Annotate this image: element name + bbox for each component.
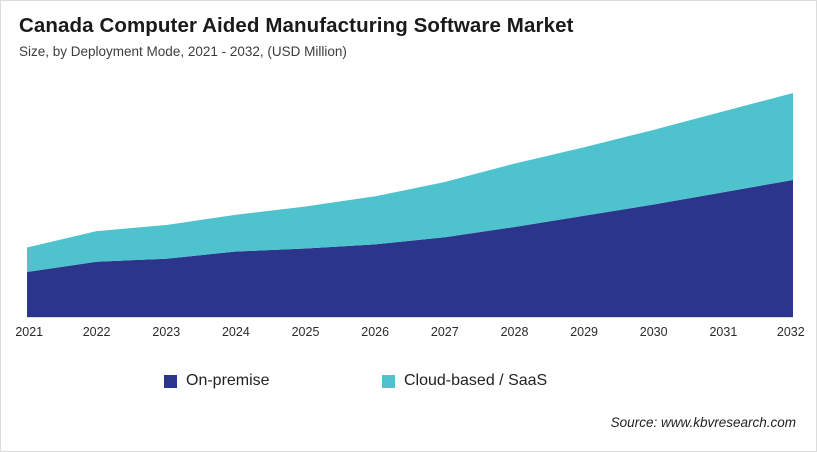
x-tick-2032: 2032 <box>777 325 805 339</box>
legend-swatch-cloud-based-saas <box>382 375 395 388</box>
series-layer <box>27 93 793 317</box>
x-tick-2027: 2027 <box>431 325 459 339</box>
legend-item-on-premise[interactable]: On-premise <box>164 373 270 389</box>
x-tick-2028: 2028 <box>501 325 529 339</box>
x-tick-2024: 2024 <box>222 325 250 339</box>
legend-item-cloud-based-saas[interactable]: Cloud-based / SaaS <box>382 373 547 389</box>
chart-figure: Canada Computer Aided Manufacturing Soft… <box>0 0 817 452</box>
source-attribution: Source: www.kbvresearch.com <box>611 415 796 430</box>
x-tick-2029: 2029 <box>570 325 598 339</box>
legend-label: On-premise <box>186 373 270 389</box>
x-tick-2026: 2026 <box>361 325 389 339</box>
legend-swatch-on-premise <box>164 375 177 388</box>
x-tick-2022: 2022 <box>83 325 111 339</box>
x-tick-2025: 2025 <box>292 325 320 339</box>
legend-label: Cloud-based / SaaS <box>404 373 547 389</box>
x-tick-2023: 2023 <box>152 325 180 339</box>
x-tick-2030: 2030 <box>640 325 668 339</box>
chart-legend: On-premiseCloud-based / SaaS <box>1 371 817 397</box>
x-tick-2021: 2021 <box>15 325 43 339</box>
x-tick-2031: 2031 <box>709 325 737 339</box>
